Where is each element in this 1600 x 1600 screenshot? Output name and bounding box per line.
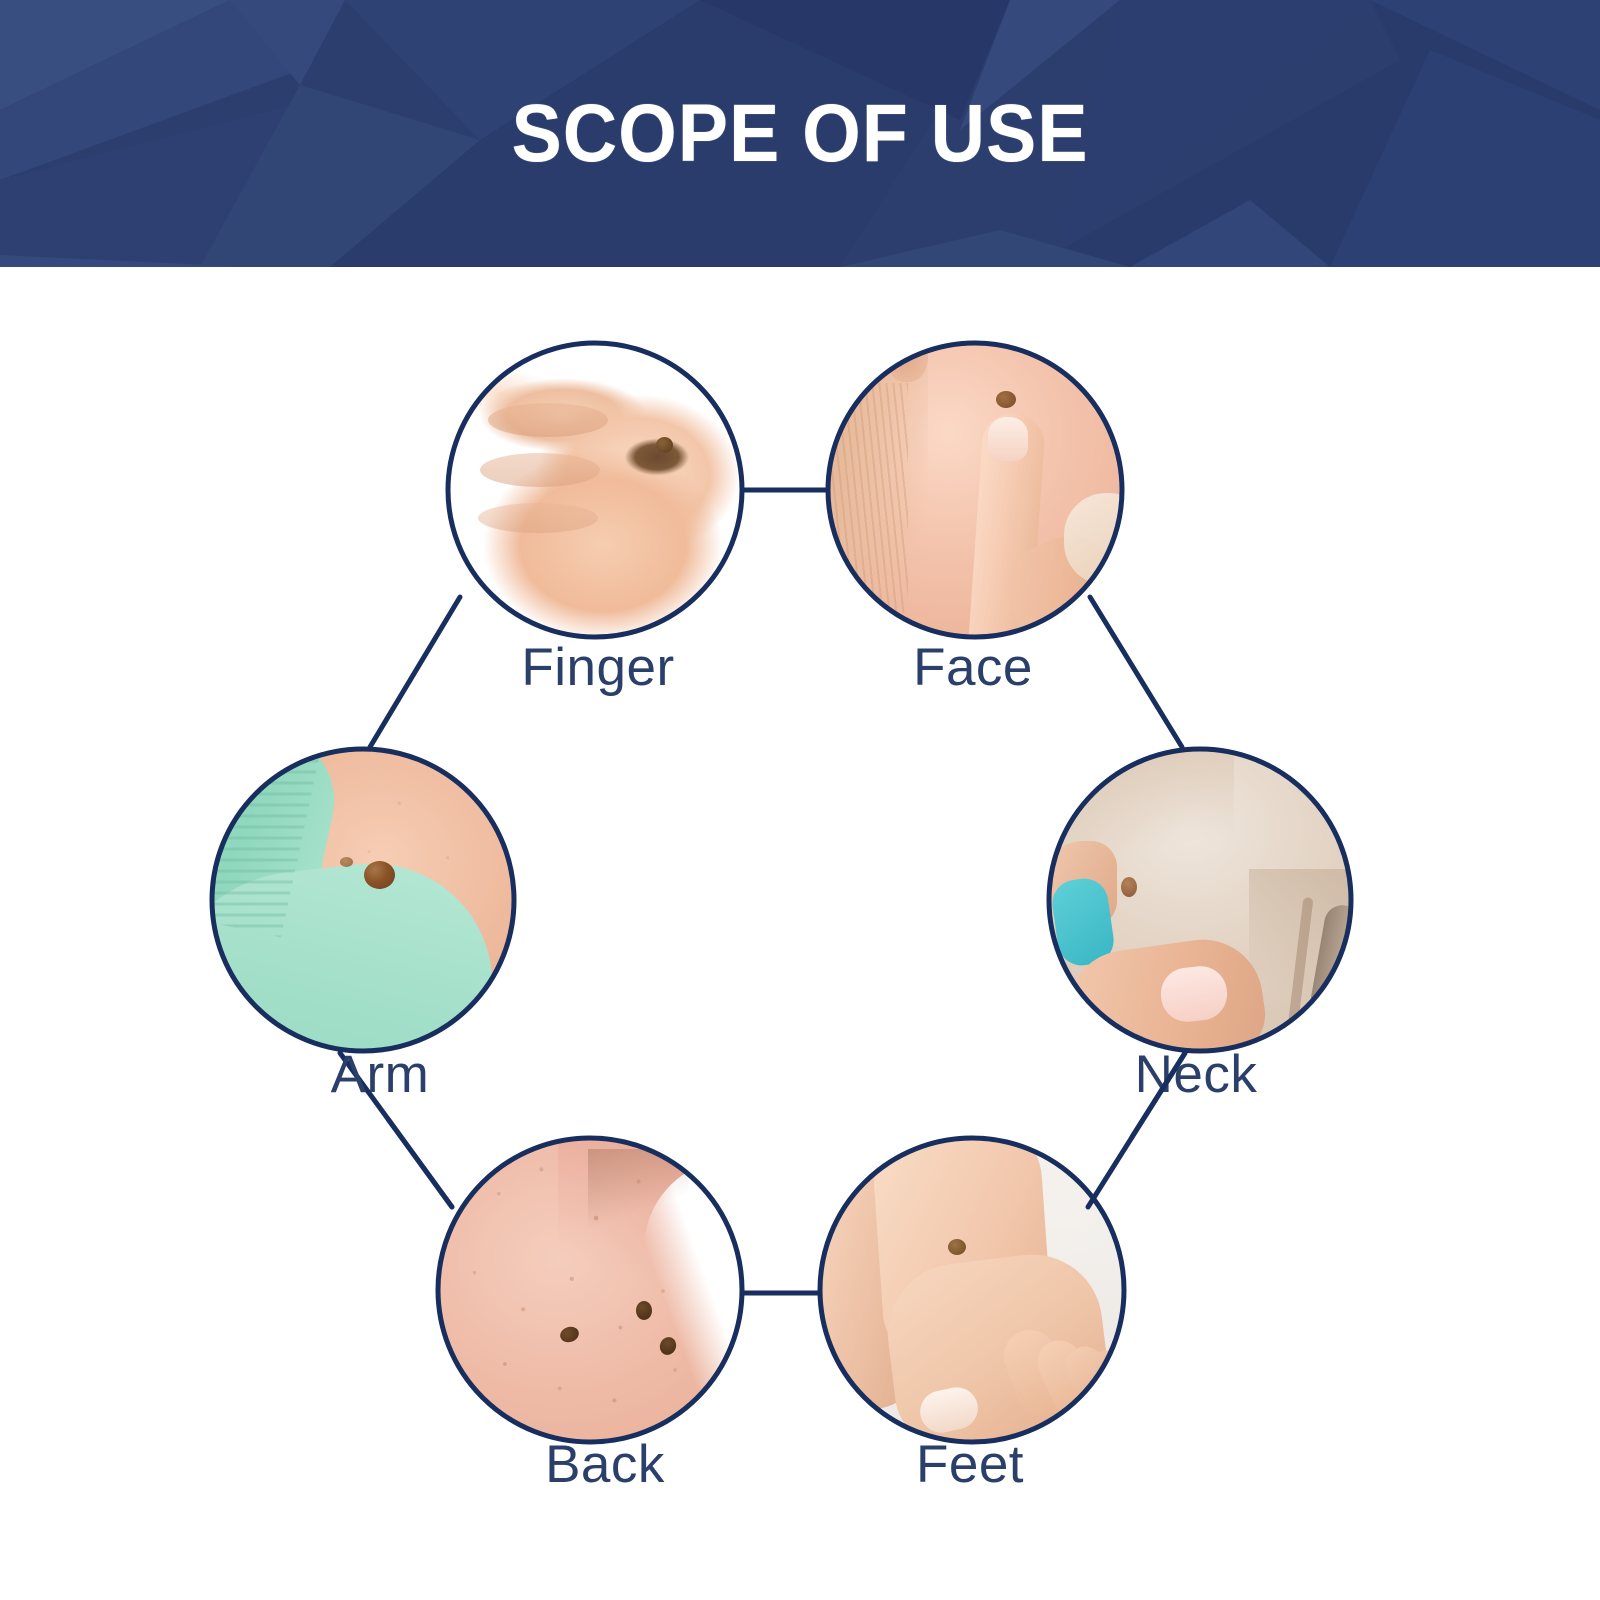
node-ring-neck [1049, 749, 1351, 1051]
node-label-neck: Neck [1135, 1044, 1258, 1105]
node-ring-face [828, 343, 1122, 637]
node-label-arm: Arm [331, 1044, 430, 1105]
node-ring-finger [448, 343, 742, 637]
scope-of-use-diagram: Finger Face Neck Feet Back Arm [0, 267, 1600, 1600]
node-ring-arm [212, 749, 514, 1051]
connector-arm-finger [370, 597, 460, 747]
diagram-outline-layer [0, 267, 1600, 1600]
node-ring-feet [820, 1138, 1124, 1442]
node-label-back: Back [545, 1434, 665, 1495]
page-header: SCOPE OF USE [0, 0, 1600, 267]
node-label-finger: Finger [521, 637, 674, 698]
node-label-face: Face [913, 637, 1033, 698]
node-ring-back [438, 1138, 742, 1442]
page-title: SCOPE OF USE [64, 0, 1536, 267]
connector-face-neck [1090, 597, 1182, 747]
node-label-feet: Feet [916, 1434, 1024, 1495]
